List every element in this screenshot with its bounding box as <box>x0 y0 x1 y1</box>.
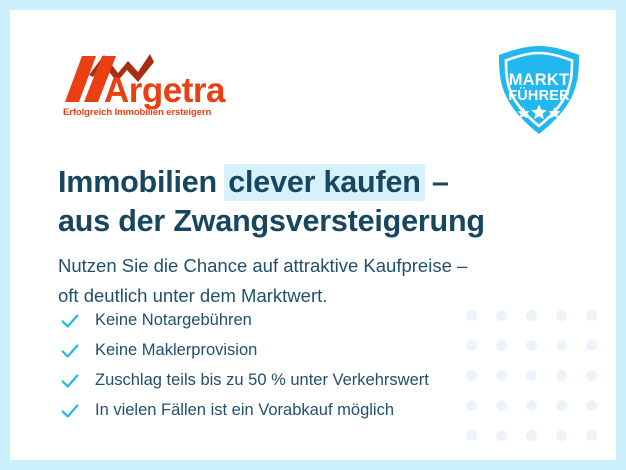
logo-tagline: Erfolgreich Immobilien ersteigern <box>63 107 212 118</box>
dot <box>586 370 597 381</box>
benefit-list: Keine Notargebühren Keine Maklerprovisio… <box>59 306 559 426</box>
list-item: Keine Maklerprovision <box>59 336 559 365</box>
list-item: Zuschlag teils bis zu 50 % unter Verkehr… <box>59 366 559 395</box>
headline-part1: Immobilien <box>58 165 225 199</box>
shield-badge-icon: MARKT FÜHRER <box>491 42 587 138</box>
dot <box>586 430 597 441</box>
check-icon <box>59 310 81 332</box>
dot <box>466 430 477 441</box>
dot <box>466 460 477 461</box>
dot <box>496 460 507 461</box>
badge-line1: MARKT <box>509 71 570 89</box>
card-canvas: Argetra Erfolgreich Immobilien ersteiger… <box>10 10 616 460</box>
dot <box>556 460 567 461</box>
list-item: Keine Notargebühren <box>59 306 559 335</box>
dot <box>586 460 597 461</box>
logo-wordmark: Argetra <box>104 71 226 110</box>
dot <box>526 460 537 461</box>
subheadline: Nutzen Sie die Chance auf attraktive Kau… <box>58 251 578 311</box>
dot <box>586 340 597 351</box>
list-item: In vielen Fällen ist ein Vorabkauf mögli… <box>59 396 559 425</box>
dot <box>526 430 537 441</box>
check-icon <box>59 340 81 362</box>
headline-highlight: clever kaufen <box>224 164 424 201</box>
list-item-label: Keine Maklerprovision <box>95 342 257 359</box>
argetra-logo: Argetra Erfolgreich Immobilien ersteiger… <box>58 48 258 120</box>
argetra-logo-icon: Argetra Erfolgreich Immobilien ersteiger… <box>58 48 258 120</box>
headline-line2: aus der Zwangsversteigerung <box>58 202 558 241</box>
list-item-label: Zuschlag teils bis zu 50 % unter Verkehr… <box>95 372 429 389</box>
promo-card: Argetra Erfolgreich Immobilien ersteiger… <box>0 0 626 470</box>
headline-part2: – <box>424 165 449 199</box>
dot <box>496 430 507 441</box>
badge-line2: FÜHRER <box>508 87 570 104</box>
subheadline-line1: Nutzen Sie die Chance auf attraktive Kau… <box>58 251 578 281</box>
market-leader-badge: MARKT FÜHRER <box>491 42 587 138</box>
dot <box>586 400 597 411</box>
headline: Immobilien clever kaufen – aus der Zwang… <box>58 163 558 241</box>
check-icon <box>59 370 81 392</box>
check-icon <box>59 400 81 422</box>
list-item-label: Keine Notargebühren <box>95 312 252 329</box>
dot <box>556 430 567 441</box>
dot <box>586 310 597 321</box>
list-item-label: In vielen Fällen ist ein Vorabkauf mögli… <box>95 402 394 419</box>
